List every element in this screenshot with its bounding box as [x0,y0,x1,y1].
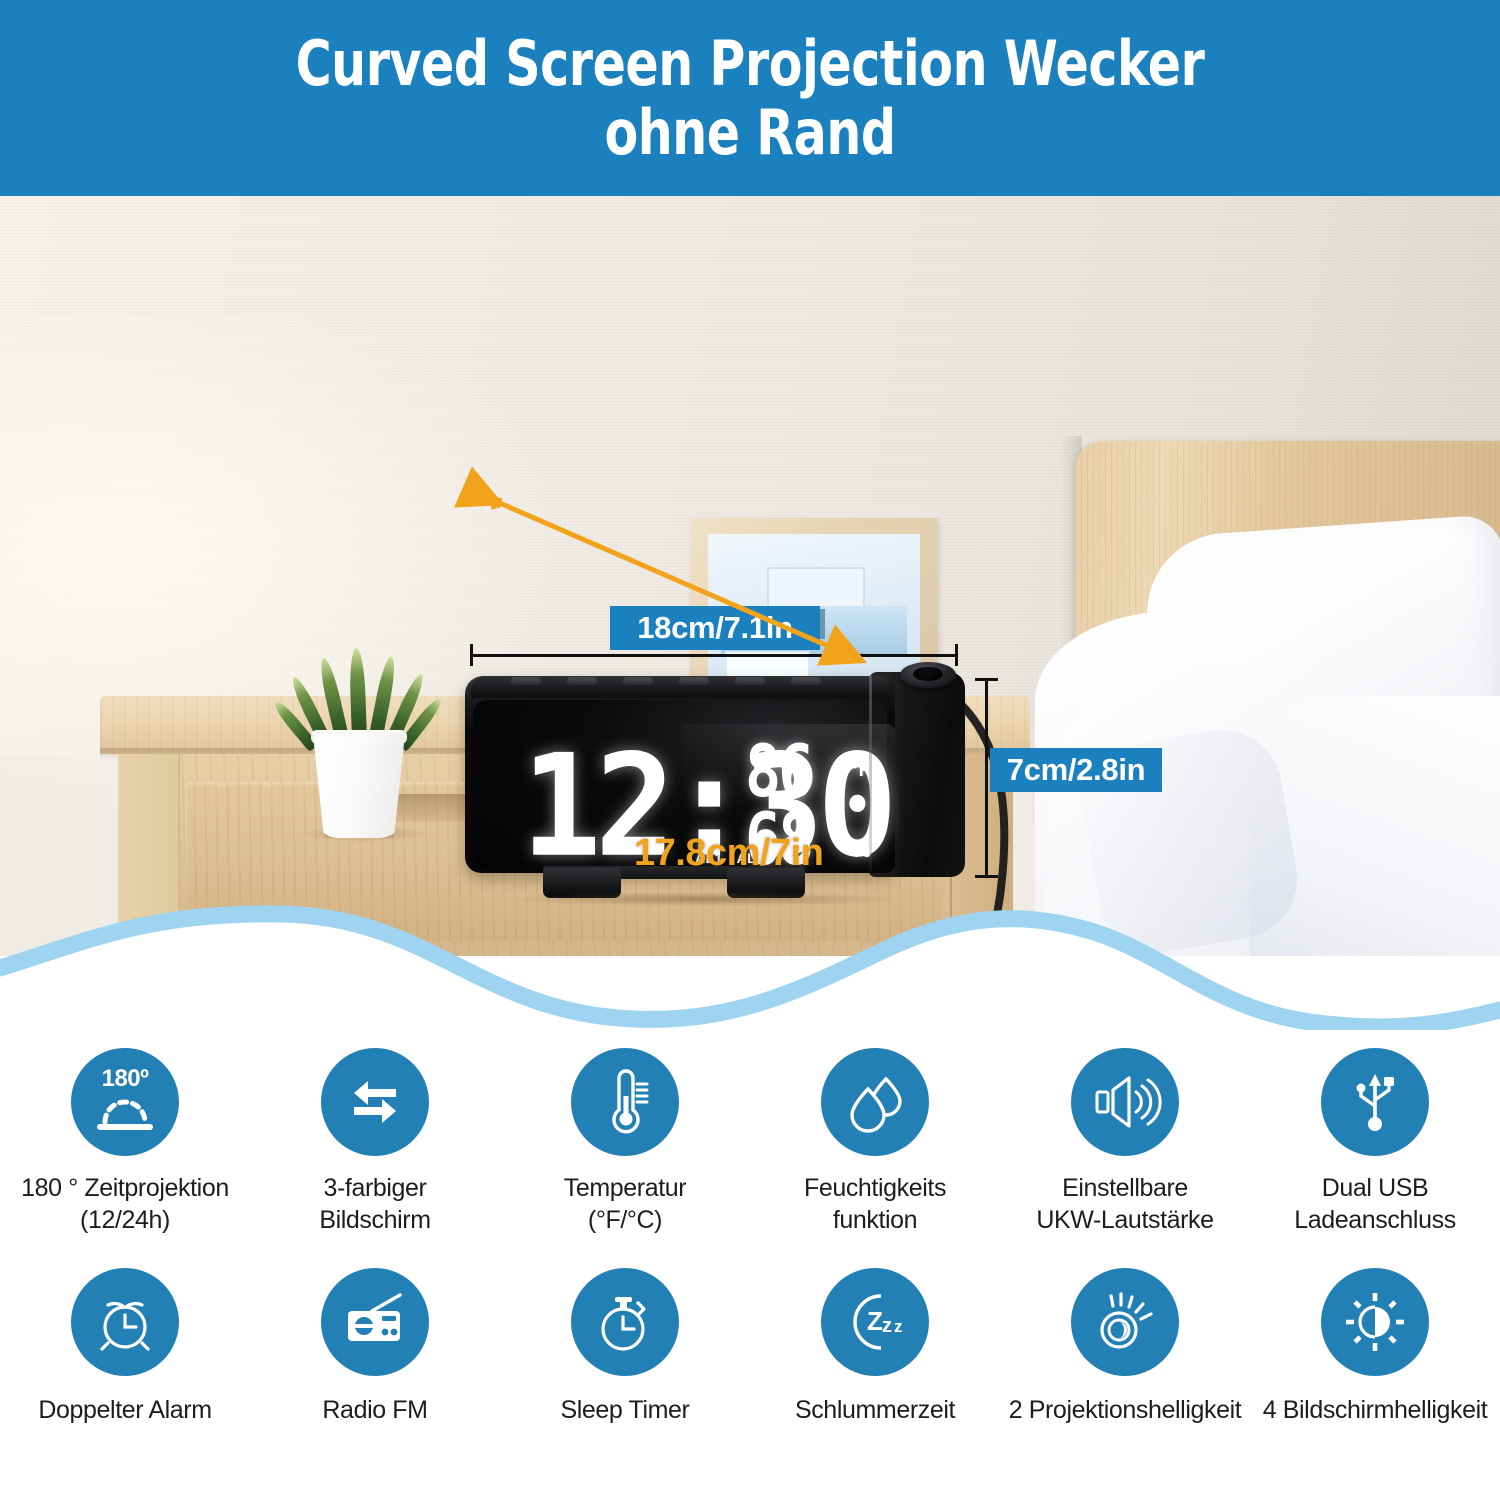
feature-180-projection[interactable]: 180º 180 ° Zeitprojektion (12/24h) [0,1048,250,1236]
wave-divider [0,880,1500,1040]
feature-fm-volume[interactable]: Einstellbare UKW-Lautstärke [1000,1048,1250,1236]
speaker-volume-icon [1071,1048,1179,1156]
page-title-line2: ohne Rand [222,98,1278,167]
brightness-sun-icon [1321,1268,1429,1376]
feature-label: 3-farbiger Bildschirm [319,1172,430,1236]
page-title-line1: Curved Screen Projection Wecker [222,29,1278,98]
usb-icon [1321,1048,1429,1156]
projector-lamp-icon [1071,1268,1179,1376]
feature-snooze[interactable]: Z z z Schlummerzeit [750,1268,1000,1426]
clock-top-button[interactable] [511,677,541,685]
clock-top-button[interactable] [735,677,765,685]
feature-screen-brightness[interactable]: 4 Bildschirmhelligkeit [1250,1268,1500,1426]
feature-row-2: Doppelter Alarm Radio FM [0,1268,1500,1426]
feature-humidity[interactable]: Feuchtigkeits funktion [750,1048,1000,1236]
feature-label: Schlummerzeit [795,1394,955,1426]
clock-top-button[interactable] [791,677,821,685]
page-title: Curved Screen Projection Wecker ohne Ran… [222,29,1278,168]
degree-180-text: 180º [71,1065,179,1093]
svg-text:z: z [882,1315,892,1337]
feature-label: Radio FM [322,1394,427,1426]
feature-label: 180 ° Zeitprojektion (12/24h) [21,1172,229,1236]
svg-text:z: z [894,1317,903,1336]
plant-pot [313,734,405,838]
feature-row-1: 180º 180 ° Zeitprojektion (12/24h) 3-far… [0,1048,1500,1236]
clock-top-button[interactable] [623,677,653,685]
thermometer-icon [571,1048,679,1156]
projection-180-degree-icon: 180º [71,1048,179,1156]
width-dimension-badge: 18cm/7.1in [610,606,820,650]
feature-label: Doppelter Alarm [38,1394,211,1426]
bidirectional-arrow-icon [321,1048,429,1156]
clock-top-button[interactable] [567,677,597,685]
feature-label: Sleep Timer [561,1394,690,1426]
stopwatch-icon [571,1268,679,1376]
height-dimension-line [985,678,988,878]
feature-sleep-timer[interactable]: Sleep Timer [500,1268,750,1426]
clock-top-panel [471,676,891,698]
water-droplets-icon [821,1048,929,1156]
product-photo: 12:30 86 °F 68 % AL1 AL2 18cm/7.1in 7cm/… [0,196,1500,956]
feature-projection-brightness[interactable]: 2 Projektionshelligkeit [1000,1268,1250,1426]
feature-dual-usb[interactable]: Dual USB Ladeanschluss [1250,1048,1500,1236]
height-dimension-badge: 7cm/2.8in [990,748,1162,792]
radio-icon [321,1268,429,1376]
svg-text:Z: Z [867,1306,883,1336]
header-banner: Curved Screen Projection Wecker ohne Ran… [0,0,1500,196]
feature-label: Dual USB Ladeanschluss [1294,1172,1456,1236]
clock-top-button[interactable] [679,677,709,685]
width-dimension-line [470,654,958,657]
feature-label: 2 Projektionshelligkeit [1009,1394,1242,1426]
feature-dual-alarm[interactable]: Doppelter Alarm [0,1268,250,1426]
feature-grid: 180º 180 ° Zeitprojektion (12/24h) 3-far… [0,1030,1500,1500]
moon-zzz-icon: Z z z [821,1268,929,1376]
feature-label: Feuchtigkeits funktion [804,1172,946,1236]
feature-label: 4 Bildschirmhelligkeit [1263,1394,1488,1426]
feature-temperature[interactable]: Temperatur (°F/°C) [500,1048,750,1236]
diagonal-dimension-label: 17.8cm/7in [634,832,823,875]
feature-radio-fm[interactable]: Radio FM [250,1268,500,1426]
feature-label: Temperatur (°F/°C) [564,1172,686,1236]
alarm-clock-icon [71,1268,179,1376]
feature-label: Einstellbare UKW-Lautstärke [1036,1172,1213,1236]
feature-3-color-screen[interactable]: 3-farbiger Bildschirm [250,1048,500,1236]
